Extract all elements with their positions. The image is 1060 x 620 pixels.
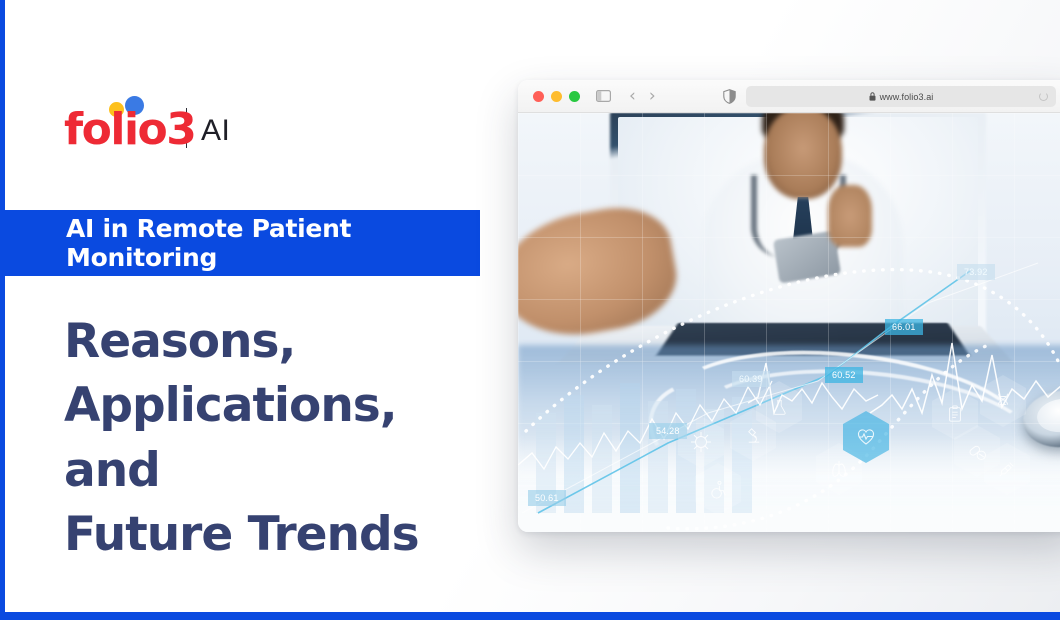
sidebar-icon[interactable] [596,90,611,102]
data-label: 66.01 [885,319,923,335]
category-banner-label: AI in Remote Patient Monitoring [0,214,480,272]
logo-wordmark-text: folio3 [64,108,195,152]
left-accent-border [0,0,5,620]
page-title: Reasons, Applications, and Future Trends [64,310,494,568]
logo-ai-text: AI [201,116,230,152]
folio3-ai-logo[interactable]: folio3 AI [64,96,230,152]
close-window-button[interactable] [533,91,544,102]
data-label: 60.39 [732,371,770,387]
page-title-line-3: Future Trends [64,503,494,567]
lock-icon [869,88,876,106]
window-controls[interactable] [533,91,580,102]
hero-banner-page: folio3 AI AI in Remote Patient Monitorin… [0,0,1060,620]
data-label: 73.92 [957,264,995,280]
browser-window: ‹ › www.folio3.ai [518,80,1060,532]
hero-image: 73.92 66.01 60.52 60.39 54.28 50.61 [518,113,1060,532]
folio3-wordmark: folio3 [64,96,172,152]
address-bar[interactable]: www.folio3.ai [746,86,1056,107]
browser-titlebar: ‹ › www.folio3.ai [518,80,1060,113]
page-title-line-1: Reasons, [64,310,494,374]
back-button[interactable]: ‹ [629,88,636,105]
minimize-window-button[interactable] [551,91,562,102]
zoom-window-button[interactable] [569,91,580,102]
bottom-accent-border [0,612,1060,620]
address-bar-url: www.folio3.ai [880,92,934,102]
forward-button[interactable]: › [649,88,656,105]
privacy-shield-icon[interactable] [723,89,736,109]
page-title-line-2: Applications, and [64,374,494,503]
data-label: 60.52 [825,367,863,383]
data-label: 50.61 [528,490,566,506]
reload-icon[interactable] [1039,92,1048,101]
navigation-buttons[interactable]: ‹ › [629,88,656,105]
category-banner: AI in Remote Patient Monitoring [0,210,480,276]
